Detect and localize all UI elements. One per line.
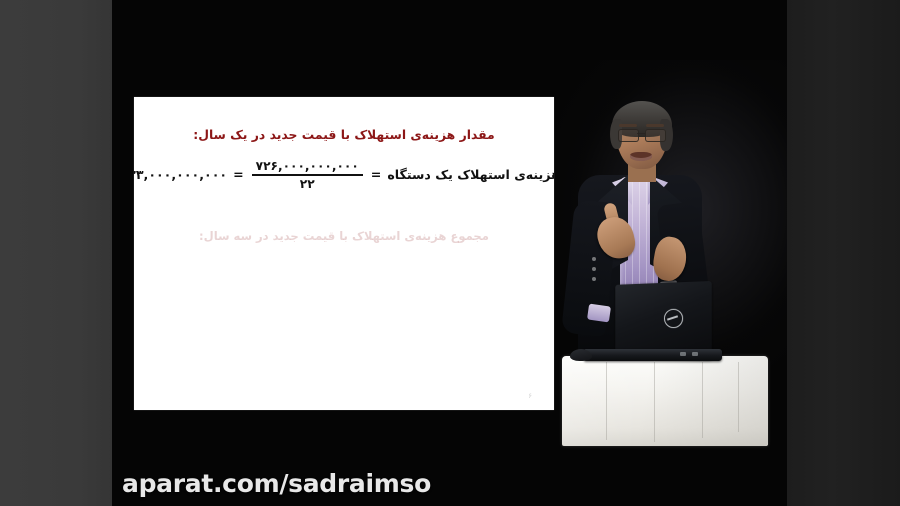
glasses-icon — [618, 129, 666, 140]
presenter-cuff-left — [587, 304, 611, 323]
video-player-stage: مقدار هزینه‌ی استهلاک با قیمت جدید در یک… — [0, 0, 900, 506]
watermark-text: aparat.com/sadraimso — [122, 469, 431, 498]
presenter-jacket-buttons — [592, 257, 606, 291]
laptop-base[interactable] — [584, 349, 722, 361]
equation-fraction: ۷۲۶,۰۰۰,۰۰۰,۰۰۰ ۲۲ — [250, 159, 365, 191]
equation-label: هزینه‌ی استهلاک یک دستگاه — [387, 167, 554, 182]
computer-mouse[interactable] — [570, 349, 592, 361]
presenter-eyebrow-left — [619, 124, 637, 127]
equation-equals-left: = — [370, 167, 383, 182]
letterbox-bar-left — [0, 0, 112, 506]
equation-result: ۳۳,۰۰۰,۰۰۰,۰۰۰ — [134, 167, 227, 182]
equation-numerator: ۷۲۶,۰۰۰,۰۰۰,۰۰۰ — [252, 159, 363, 174]
equation-denominator: ۲۲ — [296, 176, 319, 191]
slide-page-number: ۶ — [528, 392, 532, 400]
slide-equation: هزینه‌ی استهلاک یک دستگاه = ۷۲۶,۰۰۰,۰۰۰,… — [150, 159, 538, 191]
draped-table — [562, 356, 768, 446]
presenter-eyebrow-right — [646, 124, 664, 127]
dell-logo-icon — [664, 309, 683, 328]
projected-slide: مقدار هزینه‌ی استهلاک با قیمت جدید در یک… — [134, 97, 554, 410]
video-content-area[interactable]: مقدار هزینه‌ی استهلاک با قیمت جدید در یک… — [112, 0, 787, 506]
equation-equals-right: = — [232, 167, 245, 182]
slide-faded-next-line: مجموع هزینه‌ی استهلاک با قیمت جدید در سه… — [156, 229, 532, 243]
laptop-lid — [615, 281, 711, 359]
letterbox-bar-right — [787, 0, 900, 506]
slide-title: مقدار هزینه‌ی استهلاک با قیمت جدید در یک… — [156, 127, 532, 144]
presenter-mouth — [630, 152, 652, 161]
